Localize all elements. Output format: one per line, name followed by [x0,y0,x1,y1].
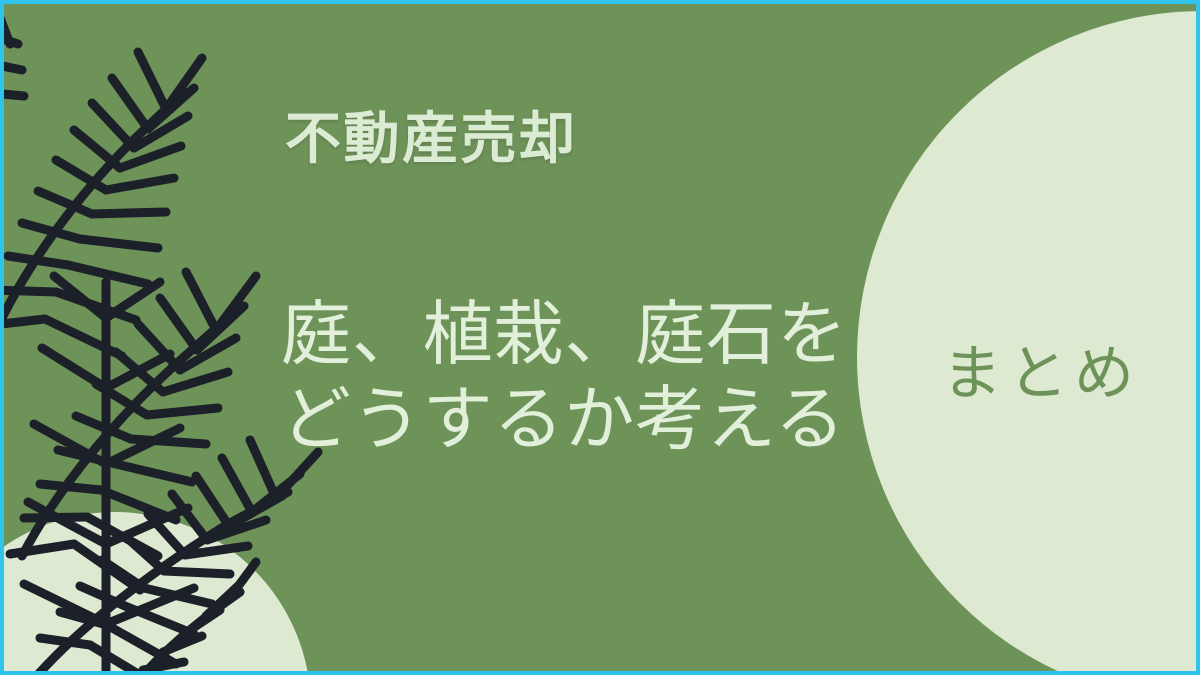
slide-canvas: 不動産売却 庭、植栽、庭石を どうするか考える まとめ [0,0,1200,675]
summary-badge: まとめ [942,344,1140,404]
page-title-line-1: 庭、植栽、庭石を [281,292,848,377]
page-title-line-2: どうするか考える [281,377,848,462]
page-title: 庭、植栽、庭石を どうするか考える [281,292,848,463]
slide-stage: 不動産売却 庭、植栽、庭石を どうするか考える まとめ [4,4,1196,671]
page-eyebrow-title: 不動産売却 [285,108,578,171]
small-light-circle [4,512,311,671]
